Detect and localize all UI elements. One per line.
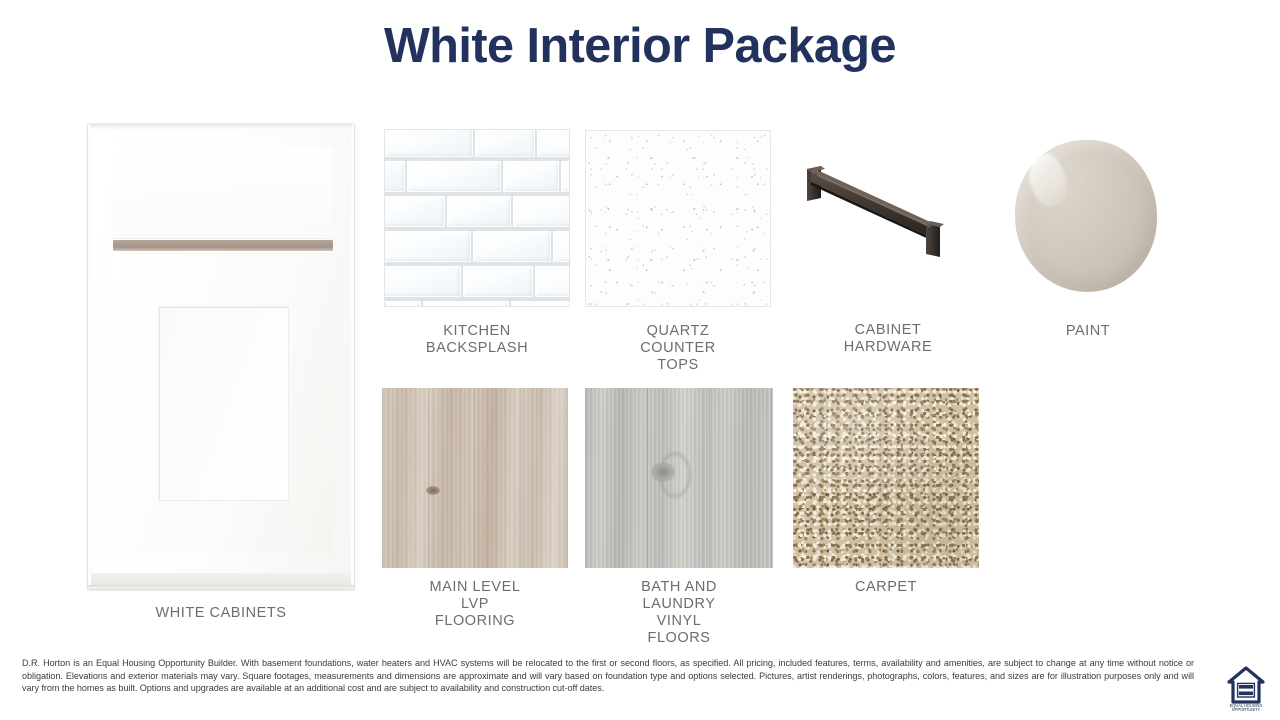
quartz-slab-image: [585, 130, 771, 307]
subway-tile: [423, 301, 509, 308]
vinyl-knot: [651, 462, 675, 482]
subway-tile: [553, 231, 570, 263]
swatch-paint: PAINT: [1015, 140, 1161, 296]
tile-row: [384, 299, 570, 307]
subway-tile: [503, 161, 559, 193]
subway-tile: [535, 266, 570, 298]
caption-quartz-counter-tops: QUARTZ COUNTER TOPS: [632, 323, 725, 374]
legal-disclaimer: D.R. Horton is an Equal Housing Opportun…: [22, 657, 1194, 695]
lvp-plank-image: [382, 388, 568, 568]
swatch-carpet: CARPET: [793, 388, 979, 568]
swatch-main-level-lvp-flooring: MAIN LEVEL LVP FLOORING: [382, 388, 568, 568]
paint-drop-image: [1015, 140, 1157, 292]
cabinet-drop-shadow: [88, 585, 354, 589]
subway-tile: [407, 161, 501, 193]
subway-tile: [384, 196, 445, 228]
subway-tile: [537, 129, 570, 157]
caption-carpet: CARPET: [855, 579, 917, 596]
subway-tile: [463, 266, 533, 298]
white-cabinet-image: [88, 124, 354, 589]
carpet-image: [793, 388, 979, 568]
paint-highlight: [1022, 149, 1075, 211]
swatch-bath-and-laundry-vinyl-floors: BATH AND LAUNDRY VINYL FLOORS: [585, 388, 773, 568]
caption-cabinet-hardware: CABINET HARDWARE: [842, 322, 935, 356]
svg-text:OPPORTUNITY: OPPORTUNITY: [1232, 707, 1261, 712]
cabinet-door-front: [113, 253, 333, 553]
vinyl-plank-image: [585, 388, 773, 568]
lvp-knot: [426, 486, 440, 495]
tile-row: [384, 129, 570, 159]
tile-row: [384, 229, 570, 264]
subway-tile: [475, 129, 535, 157]
swatch-quartz-counter-tops: QUARTZ COUNTER TOPS: [585, 130, 771, 307]
cabinet-recessed-panel: [159, 307, 289, 501]
subway-tile: [384, 231, 471, 263]
subway-tile: [384, 266, 461, 298]
cabinet-pull-icon: [795, 150, 981, 270]
subway-tile: [561, 161, 570, 193]
cabinet-drawer-front: [113, 147, 333, 239]
subway-tile: [473, 231, 551, 263]
cabinet-top-edge: [90, 124, 352, 129]
carpet-shading: [793, 388, 979, 568]
subway-tile: [447, 196, 511, 228]
tile-row: [384, 194, 570, 229]
material-swatch-board: WHITE CABINETS KITCHEN BACKSPLASH QUARTZ…: [0, 0, 1280, 720]
swatch-cabinet-hardware: CABINET HARDWARE: [795, 150, 981, 290]
subway-tile: [385, 129, 473, 157]
subway-tile: [384, 301, 421, 308]
subway-tile: [513, 196, 570, 228]
cabinet-body: [91, 129, 351, 573]
swatch-white-cabinets: WHITE CABINETS: [88, 124, 354, 589]
swatch-kitchen-backsplash: KITCHEN BACKSPLASH: [384, 129, 570, 307]
subway-tile: [511, 301, 570, 308]
tile-row: [384, 159, 570, 194]
caption-bath-and-laundry-vinyl-floors: BATH AND LAUNDRY VINYL FLOORS: [632, 579, 726, 647]
tile-row: [384, 264, 570, 299]
caption-white-cabinets: WHITE CABINETS: [156, 605, 287, 622]
subway-tile: [384, 161, 405, 193]
equal-housing-opportunity-logo-icon: EQUAL HOUSING OPPORTUNITY: [1227, 666, 1265, 712]
caption-paint: PAINT: [1066, 323, 1110, 340]
caption-main-level-lvp-flooring: MAIN LEVEL LVP FLOORING: [429, 579, 522, 630]
caption-kitchen-backsplash: KITCHEN BACKSPLASH: [426, 323, 528, 357]
subway-tile-image: [384, 129, 570, 307]
